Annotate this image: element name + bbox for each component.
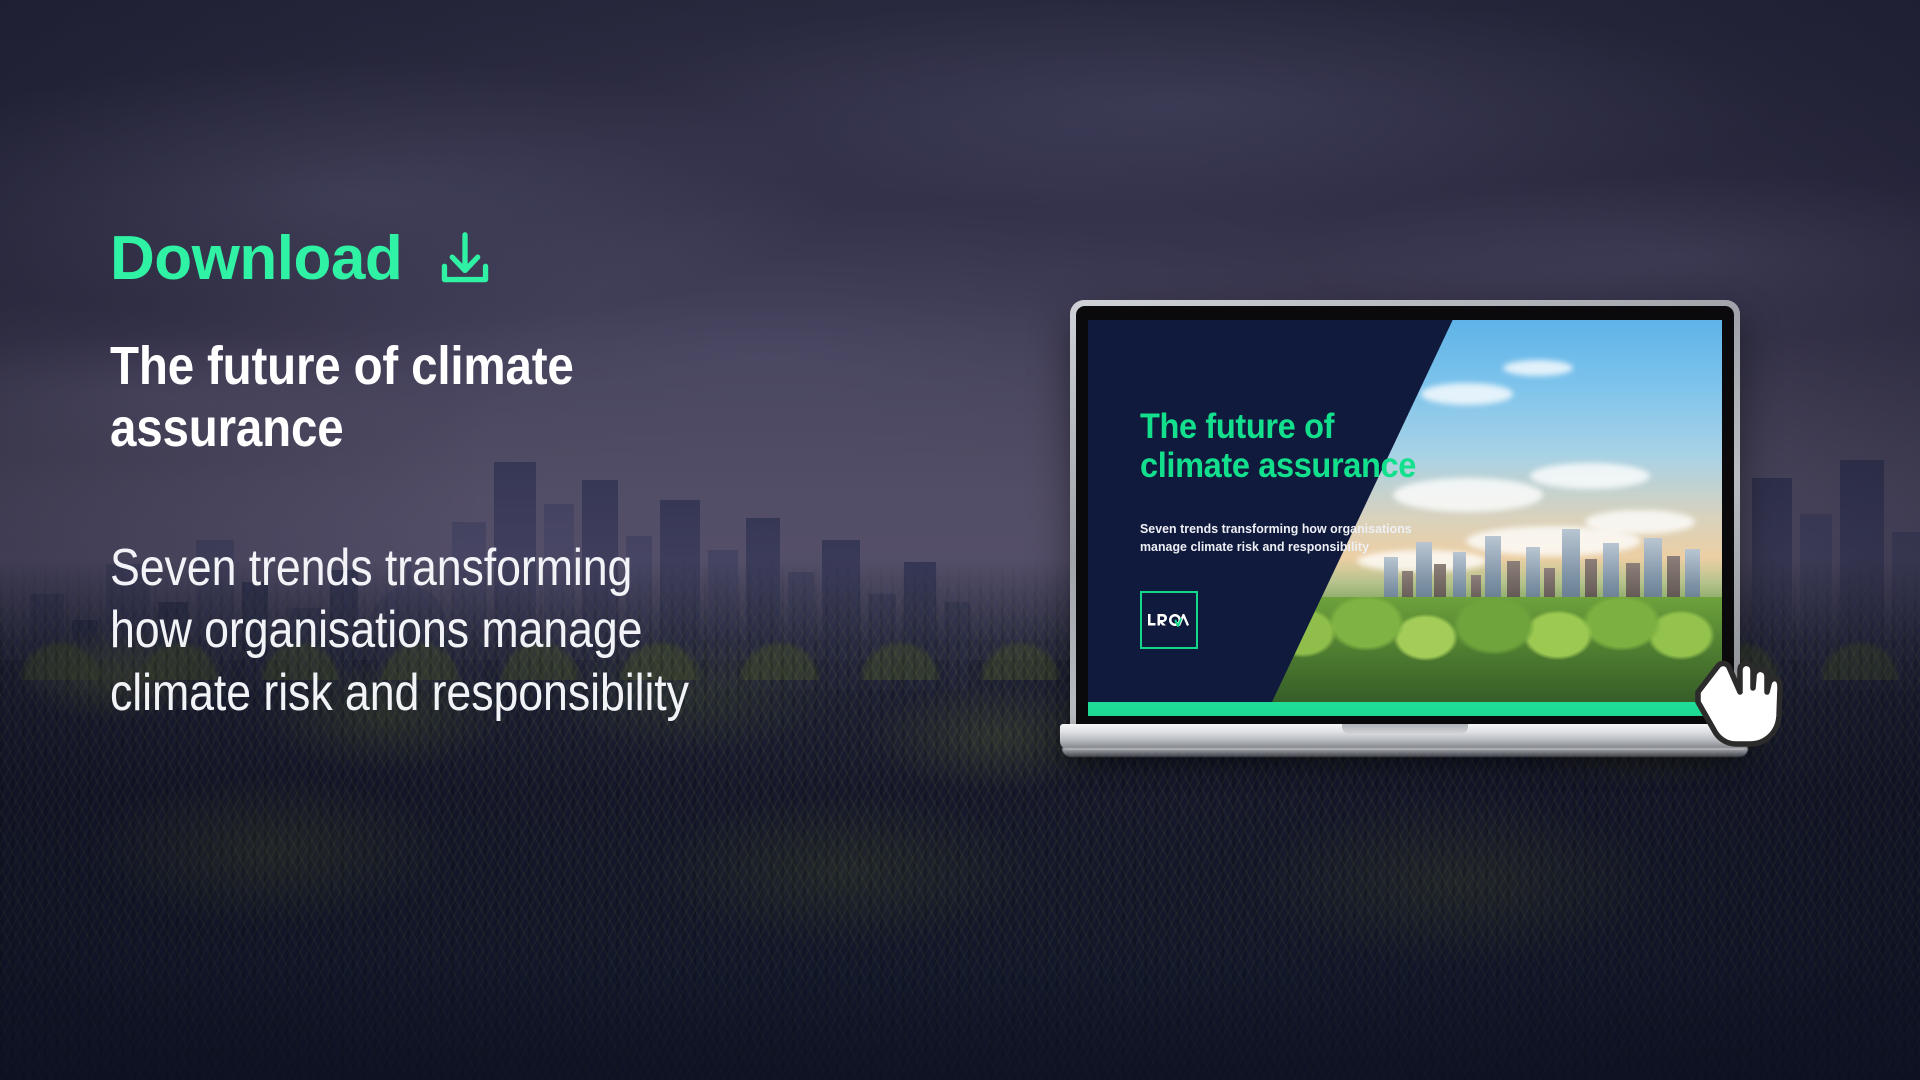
pointing-hand-cursor [1688,640,1784,750]
page-title: The future of climate assurance [110,336,867,459]
download-label: Download [110,228,402,290]
lrqa-logo-icon [1147,612,1191,628]
laptop-mockup: The future of climate assurance Seven tr… [1060,300,1750,770]
lrqa-logo [1140,591,1198,649]
slide-content: The future of climate assurance Seven tr… [1088,320,1722,716]
laptop-notch [1342,724,1468,735]
laptop-lid: The future of climate assurance Seven tr… [1070,300,1740,730]
promo-copy-block: Download The future of climate assurance… [110,228,970,724]
slide-subtitle: Seven trends transforming how organisati… [1140,520,1412,556]
download-arrow-icon[interactable] [436,230,494,288]
laptop-foot [1062,748,1748,757]
laptop-screen[interactable]: The future of climate assurance Seven tr… [1088,320,1722,716]
promo-subcopy: Seven trends transforming how organisati… [110,537,850,724]
slide-title: The future of climate assurance [1140,407,1416,485]
download-cta[interactable]: Download [110,228,970,290]
laptop-base [1060,724,1750,750]
slide-accent-bar [1088,702,1722,716]
laptop-bezel: The future of climate assurance Seven tr… [1076,306,1734,730]
